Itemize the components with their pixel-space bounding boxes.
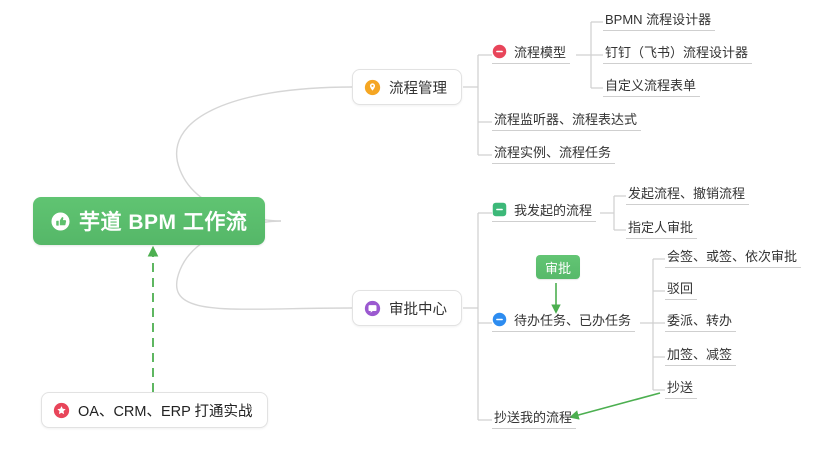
node-label: 我发起的流程: [514, 203, 592, 219]
node-label: BPMN 流程设计器: [605, 12, 711, 28]
node-instance-task[interactable]: 流程实例、流程任务: [492, 138, 615, 164]
node-label: 流程实例、流程任务: [494, 145, 611, 161]
node-label: 驳回: [667, 281, 693, 297]
branch-label: 审批中心: [389, 298, 447, 319]
node-my-initiated-flows[interactable]: 我发起的流程: [492, 196, 596, 222]
node-label: 待办任务、已办任务: [514, 313, 631, 329]
node-custom-form[interactable]: 自定义流程表单: [603, 71, 700, 97]
node-reject[interactable]: 驳回: [665, 274, 697, 300]
branch-label: 流程管理: [389, 77, 447, 98]
node-label: 流程监听器、流程表达式: [494, 112, 637, 128]
thumbs-up-icon: [51, 212, 70, 231]
node-label: 加签、减签: [667, 347, 732, 363]
branch-flow-management[interactable]: 流程管理: [352, 69, 462, 105]
node-dingtalk-designer[interactable]: 钉钉（飞书）流程设计器: [603, 38, 752, 64]
minus-circle-icon: [492, 44, 507, 59]
minus-square-icon: [492, 202, 507, 217]
minus-circle-blue-icon: [492, 312, 507, 327]
node-label: 指定人审批: [628, 220, 693, 236]
node-process-model[interactable]: 流程模型: [492, 38, 570, 64]
tag-approval[interactable]: 审批: [536, 255, 580, 279]
node-cc[interactable]: 抄送: [665, 373, 697, 399]
star-circle-icon: [53, 402, 70, 419]
node-todo-done-tasks[interactable]: 待办任务、已办任务: [492, 306, 635, 332]
node-add-remove-sign[interactable]: 加签、减签: [665, 340, 736, 366]
node-label: 钉钉（飞书）流程设计器: [605, 45, 748, 61]
callout-label: OA、CRM、ERP 打通实战: [78, 400, 253, 421]
root-label: 芋道 BPM 工作流: [79, 206, 247, 236]
node-label: 自定义流程表单: [605, 78, 696, 94]
tag-label: 审批: [545, 258, 571, 277]
mindmap-canvas: 芋道 BPM 工作流 流程管理 流程模型 BPMN 流程设计器 钉钉（飞书）流程…: [0, 0, 814, 453]
node-cc-to-me-flows[interactable]: 抄送我的流程: [492, 403, 576, 429]
node-label: 流程模型: [514, 45, 566, 61]
node-start-cancel-flow[interactable]: 发起流程、撤销流程: [626, 179, 749, 205]
node-assigned-approval[interactable]: 指定人审批: [626, 213, 697, 239]
node-label: 委派、转办: [667, 313, 732, 329]
node-label: 抄送我的流程: [494, 410, 572, 426]
node-delegate-transfer[interactable]: 委派、转办: [665, 306, 736, 332]
message-square-icon: [364, 300, 381, 317]
location-pin-icon: [364, 79, 381, 96]
node-label: 发起流程、撤销流程: [628, 186, 745, 202]
branch-approval-center[interactable]: 审批中心: [352, 290, 462, 326]
node-bpmn-designer[interactable]: BPMN 流程设计器: [603, 5, 715, 31]
node-label: 抄送: [667, 380, 693, 396]
callout-integration[interactable]: OA、CRM、ERP 打通实战: [41, 392, 268, 428]
node-label: 会签、或签、依次审批: [667, 249, 797, 265]
node-countersign-modes[interactable]: 会签、或签、依次审批: [665, 242, 801, 268]
root-node[interactable]: 芋道 BPM 工作流: [33, 197, 265, 245]
node-listener-expression[interactable]: 流程监听器、流程表达式: [492, 105, 641, 131]
